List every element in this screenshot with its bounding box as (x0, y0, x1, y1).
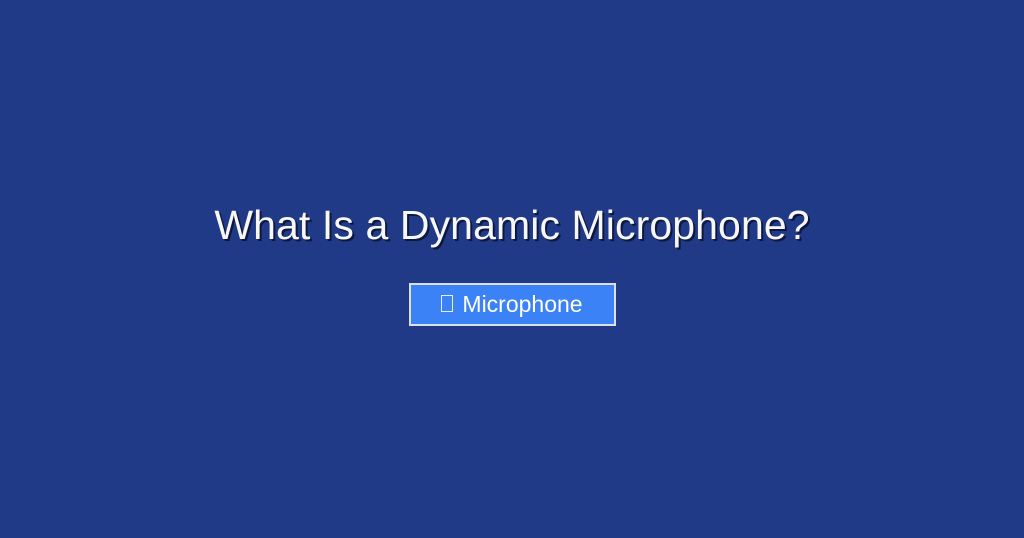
microphone-tag-button[interactable]: Microphone (409, 283, 616, 326)
hero-content-block: What Is a Dynamic Microphone? Microphone (0, 0, 1024, 538)
microphone-tag-label: Microphone (462, 293, 582, 316)
microphone-icon (441, 295, 453, 312)
page-title: What Is a Dynamic Microphone? (214, 205, 809, 246)
page-canvas: What Is a Dynamic Microphone? Microphone (0, 0, 1024, 538)
